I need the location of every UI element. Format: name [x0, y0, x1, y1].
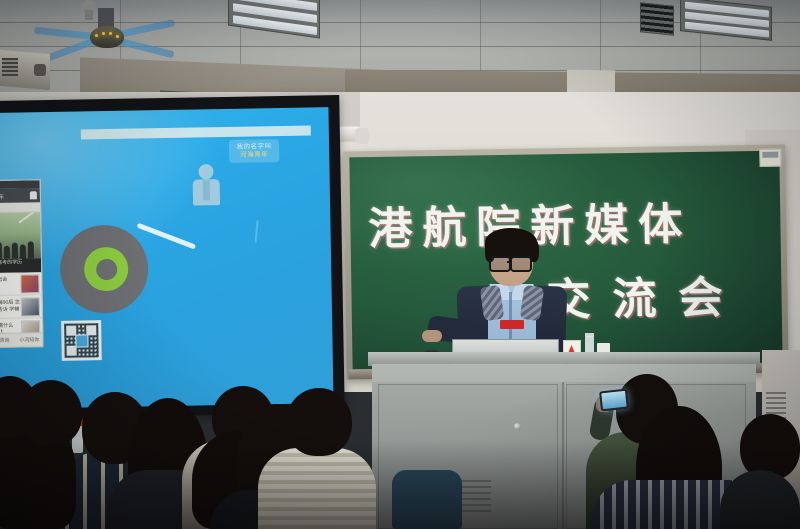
- projected-slide: 我的名字叫 河海青年: [0, 107, 334, 409]
- audience-head: [286, 388, 352, 456]
- audience-striped-sweater: [258, 448, 376, 529]
- hero-arrow-icon: [18, 212, 34, 223]
- phone-headline-caption: 您对高考的学历 么?: [0, 258, 41, 273]
- projection-screen: 我的名字叫 河海青年: [0, 95, 345, 419]
- fan-hub: [90, 26, 124, 48]
- projector-vent: [2, 58, 18, 78]
- slide-speech-bubble: 我的名字叫 河海青年: [229, 139, 279, 163]
- chair: [392, 470, 462, 529]
- roller-end-cap: [355, 128, 369, 144]
- door-lock-left[interactable]: [514, 423, 521, 430]
- phone-footer-bar: 服务咨询 小河知你: [0, 332, 43, 347]
- glasses-lens-left: [489, 256, 511, 272]
- blackboard-corner-sticker: [759, 149, 781, 167]
- glasses-bridge: [507, 261, 512, 263]
- list-item: 回忆怎会: [0, 272, 42, 296]
- ceiling-light: [680, 0, 772, 41]
- blackboard-text-line-2: 交流会: [546, 261, 745, 328]
- podium-door-gap: [562, 382, 564, 529]
- hand-left: [422, 330, 442, 342]
- phone-nav-bar: 海青年: [0, 188, 40, 203]
- list-item-thumbnail: [20, 274, 39, 293]
- phone-footer-right: 小河知你: [19, 336, 39, 343]
- phone-nav-title: 海青年: [0, 192, 4, 201]
- phone-footer-left: 服务咨询: [0, 337, 10, 344]
- qr-code-pattern: [64, 323, 99, 358]
- bubble-line-2: 河海青年: [229, 152, 279, 159]
- glasses-lens-right: [510, 256, 532, 272]
- phone-screenshot-overlay: 海青年 您对高考的学历 么? 回忆怎会: [0, 179, 44, 348]
- person-in-suit-tie-icon: [203, 180, 210, 200]
- phone-hero-image: [0, 212, 41, 259]
- sticker-image: [762, 152, 778, 158]
- qr-code: [61, 320, 102, 361]
- projector-lens-icon: [34, 64, 46, 76]
- podium-highlight: [372, 364, 756, 382]
- ceiling-light: [228, 0, 320, 38]
- list-item-thumbnail: [21, 297, 40, 316]
- ceiling-light: [640, 2, 674, 36]
- smartphone-camera[interactable]: [599, 389, 629, 412]
- list-item: 边河海90后 怎不住告诉 学辅导员: [0, 295, 42, 319]
- list-item-text: 回忆怎会: [0, 277, 21, 285]
- qr-center-logo: [75, 334, 88, 347]
- phone-headline-1: 您对高考的学历: [0, 261, 22, 267]
- bubble-line-1: 我的名字叫: [229, 144, 279, 151]
- classroom-photo: 我的名字叫 河海青年: [0, 0, 800, 529]
- phone-profile-icon: [30, 191, 37, 199]
- audience-head: [740, 414, 800, 480]
- chest-logo: [500, 320, 524, 329]
- slide-faint-mark: [255, 220, 259, 242]
